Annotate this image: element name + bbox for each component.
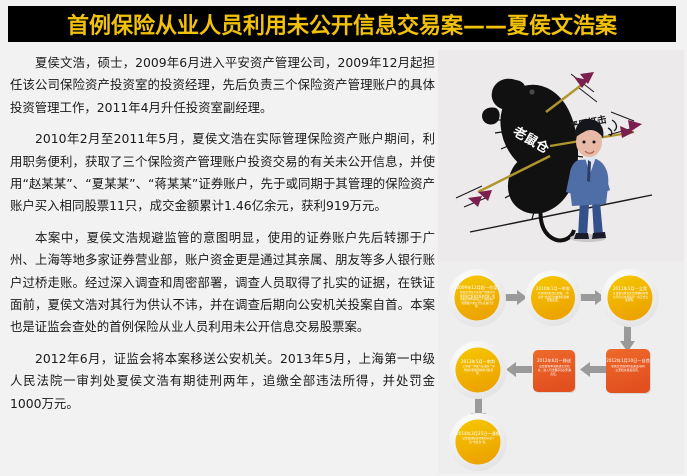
paragraph: 本案中，夏侯文浩规避监管的意图明显，使用的证券账户先后转挪于广州、上海等地多家证… [10,227,435,339]
node-body-wrap: 证监会对夏侯文浩涉嫌利用未公开信息交易股票一案正式立案调查。 [613,292,648,314]
rat-trading-illustration: 老鼠仓 严厉打击 [438,50,684,262]
node-body: 夏侯文浩任平安资产管理公司保险资产投资室投资经理，利用职务便利获取三个保险资产管… [460,291,495,309]
node-title: 2012年6月—移送 [537,357,572,364]
figure-eye-left [583,141,586,144]
infographic-page: 首例保险从业人员利用未公开信息交易案——夏侯文浩案 夏侯文浩，硕士，2009年6… [0,0,687,476]
paragraph: 2012年6月，证监会将本案移送公安机关。2013年5月，上海第一中级人民法院一… [10,348,435,415]
node-title: 2010年1月—举发 [536,285,571,292]
flow-node-n6[interactable]: 2013年5月—审判 上海第一中级人民法院一审判处有期徒刑两年并处罚金。 [449,341,507,399]
flow-node-n5[interactable]: 2012年6月—移送 证监会将本案移送公安机关，进入司法程序追究刑事责任。 [533,350,576,393]
illustration-canvas: 老鼠仓 严厉打击 [438,50,684,262]
flow-node-n3[interactable]: 2011年1月—立案 证监会对夏侯文浩涉嫌利用未公开信息交易股票一案正式立案调查… [601,269,659,327]
node-title: 2013年5月—审判 [461,358,495,365]
node-body: 有关线索移交证监会，“老鼠仓”交易行为被监控系统预警发现。 [537,292,570,303]
flow-node-n4[interactable]: 2012年1月10日—自首 夏侯文浩在调查后期主动向公安机关投案自首。 [606,349,651,394]
flow-node-n2[interactable]: 2010年1月—举发 有关线索移交证监会，“老鼠仓”交易行为被监控系统预警发现。 [525,270,581,326]
node-body-wrap: 上海第一中级人民法院一审判处有期徒刑两年并处罚金。 [462,365,495,387]
node-body-wrap: 有关线索移交证监会，“老鼠仓”交易行为被监控系统预警发现。 [537,292,570,314]
paragraph: 夏侯文浩，硕士，2009年6月进入平安资产管理公司，2009年12月起担任该公司… [10,52,435,119]
node-title: 2011年1月—立案 [613,285,648,292]
node-title: 2014年3月25日—通报 [456,430,501,437]
node-title: 2009年12月起—作案 [456,284,498,291]
node-body: 证监会将本案移送公安机关，进入司法程序追究刑事责任。 [537,365,572,376]
figure-shoe-right [592,232,606,239]
flowchart-canvas: 2009年12月起—作案 夏侯文浩任平安资产管理公司保险资产投资室投资经理，利用… [438,262,684,474]
figure-eye-right [593,141,596,144]
node-title: 2012年1月10日—自首 [606,357,650,364]
node-body-wrap: 证监会通报首例保险从业人员“老鼠仓”案。 [462,437,495,459]
node-body-wrap: 夏侯文浩任平安资产管理公司保险资产投资室投资经理，利用职务便利获取三个保险资产管… [460,291,495,315]
flow-node-n7[interactable]: 2014年3月25日—通报 证监会通报首例保险从业人员“老鼠仓”案。 [449,413,507,471]
paragraph: 2010年2月至2011年5月，夏侯文浩在实际管理保险资产账户期间，利用职务便利… [10,128,435,218]
node-body: 证监会对夏侯文浩涉嫌利用未公开信息交易股票一案正式立案调查。 [613,292,648,303]
rat-paw [482,107,500,124]
node-body-wrap: 证监会将本案移送公安机关，进入司法程序追究刑事责任。 [537,365,572,389]
rat-ear-inner [529,89,534,94]
figure-shoe-left [574,233,589,239]
case-timeline-flowchart: 2009年12月起—作案 夏侯文浩任平安资产管理公司保险资产投资室投资经理，利用… [438,262,684,474]
article-body: 夏侯文浩，硕士，2009年6月进入平安资产管理公司，2009年12月起担任该公司… [10,52,435,470]
node-body: 夏侯文浩在调查后期主动向公安机关投案自首。 [610,365,646,373]
flow-node-n1[interactable]: 2009年12月起—作案 夏侯文浩任平安资产管理公司保险资产投资室投资经理，利用… [448,269,506,327]
node-body: 证监会通报首例保险从业人员“老鼠仓”案。 [462,437,495,444]
title-banner: 首例保险从业人员利用未公开信息交易案——夏侯文浩案 [8,6,676,42]
node-body-wrap: 夏侯文浩在调查后期主动向公安机关投案自首。 [610,365,646,389]
node-body: 上海第一中级人民法院一审判处有期徒刑两年并处罚金。 [462,365,495,376]
page-title: 首例保险从业人员利用未公开信息交易案——夏侯文浩案 [67,8,617,40]
